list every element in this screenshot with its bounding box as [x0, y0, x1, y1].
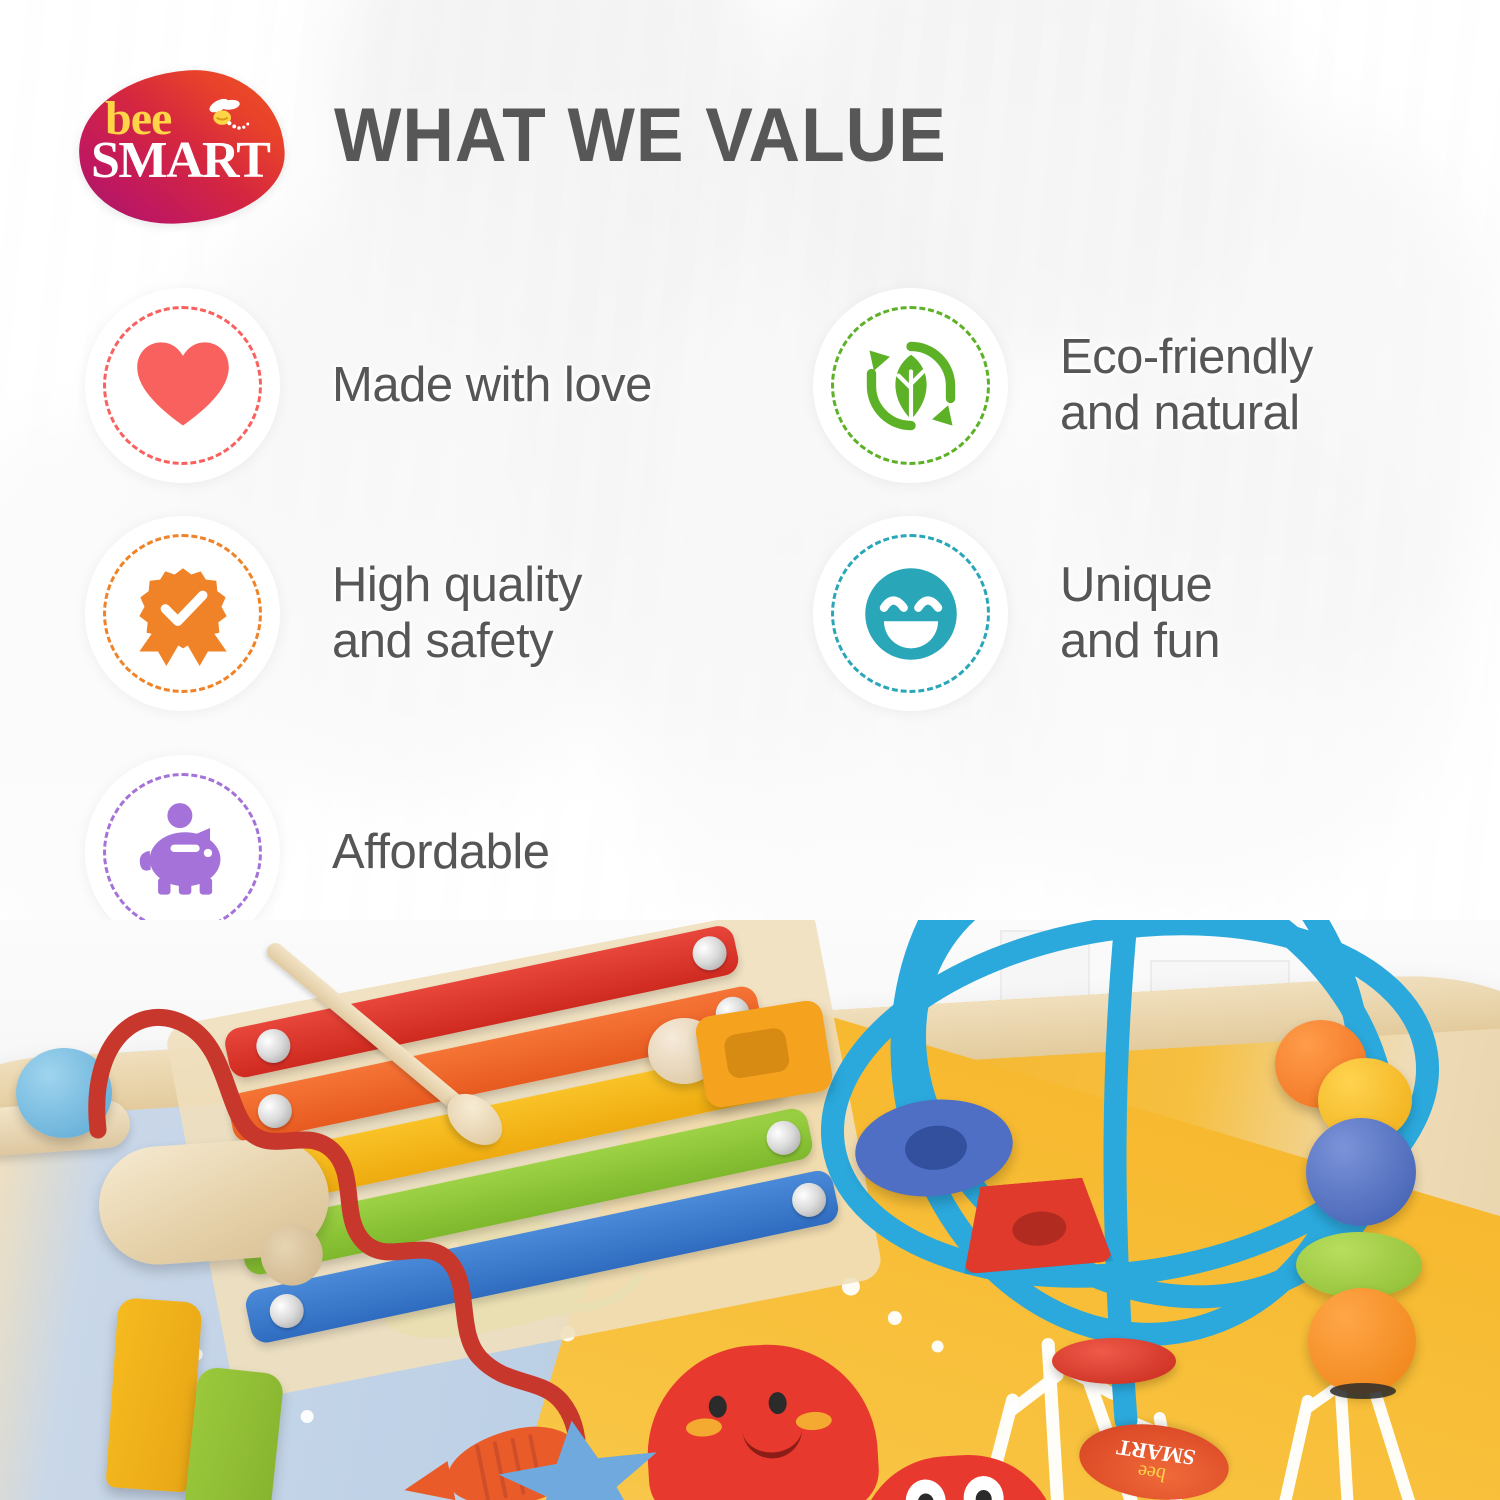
- piggy-bank-icon: [131, 801, 235, 905]
- bee-icon: [203, 96, 251, 136]
- heart-icon: [131, 334, 235, 438]
- value-label-affordable: Affordable: [332, 825, 550, 881]
- bead-orange: [1308, 1288, 1416, 1394]
- value-label-eco-friendly: Eco-friendly and natural: [1060, 330, 1313, 442]
- value-item-unique-and-fun: Unique and fun: [813, 516, 1220, 711]
- logo-smart-text: SMART: [91, 135, 269, 187]
- badge-eco-friendly: [813, 288, 1008, 483]
- infographic-canvas: bee SMART WHAT WE VALUE: [0, 0, 1500, 1500]
- award-rosette-icon: [131, 562, 235, 666]
- value-label-high-quality: High quality and safety: [332, 558, 582, 670]
- value-item-eco-friendly: Eco-friendly and natural: [813, 288, 1313, 483]
- smiley-face-icon: [859, 562, 963, 666]
- board-logo-smart-text: SMART: [1115, 1436, 1198, 1469]
- bead-blue: [1306, 1118, 1416, 1226]
- wooden-peg-green: [181, 1366, 284, 1500]
- product-photo: [0, 920, 1500, 1500]
- value-item-high-quality: High quality and safety: [85, 516, 582, 711]
- value-item-made-with-love: Made with love: [85, 288, 652, 483]
- badge-high-quality: [85, 516, 280, 711]
- value-label-made-with-love: Made with love: [332, 358, 652, 414]
- brand-logo: bee SMART: [79, 71, 284, 223]
- value-label-unique-and-fun: Unique and fun: [1060, 558, 1220, 670]
- recycle-leaf-icon: [859, 334, 963, 438]
- wire-base-red: [1052, 1338, 1176, 1384]
- bead-wire-foot: [1330, 1383, 1396, 1399]
- badge-unique-and-fun: [813, 516, 1008, 711]
- badge-made-with-love: [85, 288, 280, 483]
- page-title: WHAT WE VALUE: [334, 98, 947, 174]
